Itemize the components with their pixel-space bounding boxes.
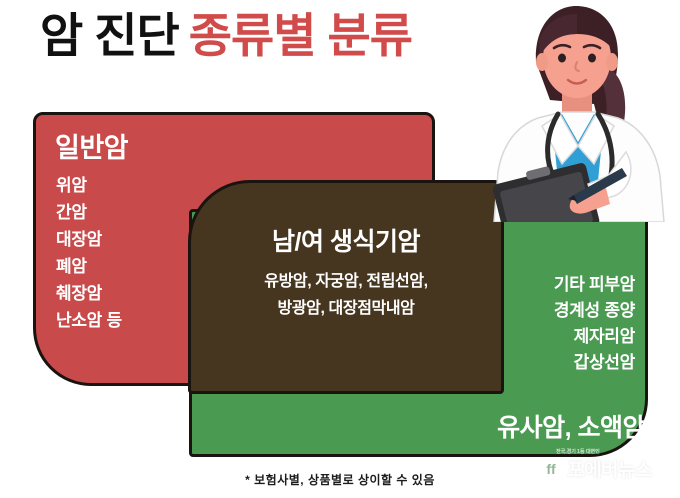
list-item: 기타 피부암 [554, 272, 635, 298]
general-cancer-list: 위암 간암 대장암 폐암 췌장암 난소암 등 [56, 172, 122, 334]
list-item: 대장암 [56, 226, 122, 253]
list-item: 난소암 등 [56, 307, 122, 334]
title-black-part: 암 진단 [40, 9, 179, 62]
list-item: 유방암, 자궁암, 전립선암, [188, 268, 504, 295]
title-red-part: 종류별 분류 [189, 9, 412, 62]
infographic-canvas: 암 진단종류별 분류 [0, 0, 680, 498]
list-item: 경계성 종양 [554, 298, 635, 324]
watermark-tagline: 전국,경기 1등 대변인 [556, 448, 600, 455]
list-item: 간암 [56, 199, 122, 226]
list-item: 췌장암 [56, 280, 122, 307]
page-title: 암 진단종류별 분류 [40, 12, 412, 59]
minor-cancer-heading: 유사암, 소액암 [497, 408, 645, 444]
reproductive-cancer-list: 유방암, 자궁암, 전립선암, 방광암, 대장점막내암 [188, 268, 504, 322]
reproductive-cancer-heading: 남/여 생식기암 [188, 222, 504, 258]
list-item: 갑상선암 [554, 350, 635, 376]
female-doctor-illustration [476, 0, 680, 222]
list-item: 폐암 [56, 253, 122, 280]
list-item: 방광암, 대장점막내암 [188, 295, 504, 322]
list-item: 제자리암 [554, 324, 635, 350]
list-item: 위암 [56, 172, 122, 199]
minor-cancer-list: 기타 피부암 경계성 종양 제자리암 갑상선암 [554, 272, 635, 376]
footer-disclaimer: * 보험사별, 상품별로 상이할 수 있음 [0, 471, 680, 488]
general-cancer-heading: 일반암 [55, 126, 128, 165]
